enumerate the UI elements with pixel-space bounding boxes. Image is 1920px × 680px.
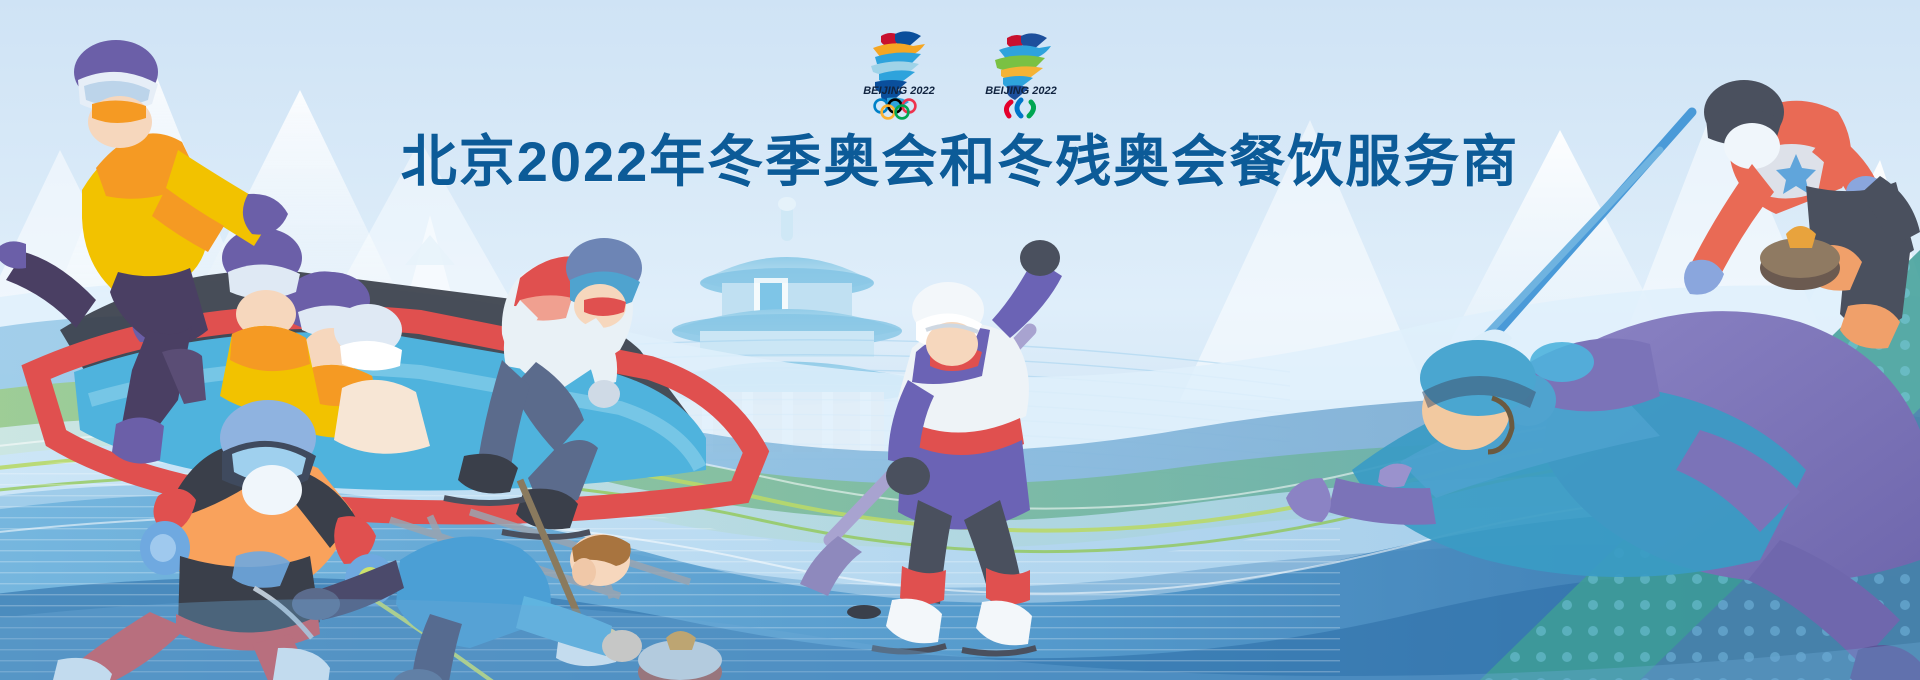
paralympic-agitos-icon: [1006, 100, 1033, 116]
olympic-emblem-svg: BEIJING 2022: [851, 26, 947, 120]
paralympic-emblem-svg: BEIJING 2022: [973, 26, 1069, 120]
beijing-2022-banner: BEIJING 2022: [0, 0, 1920, 680]
paralympic-wordmark: BEIJING 2022: [985, 85, 1057, 97]
paralympic-emblem: BEIJING 2022: [973, 26, 1069, 120]
emblem-row: BEIJING 2022: [0, 26, 1920, 120]
olympic-emblem: BEIJING 2022: [851, 26, 947, 120]
olympic-ribbon-icon: [871, 31, 925, 110]
olympic-wordmark: BEIJING 2022: [863, 85, 935, 97]
